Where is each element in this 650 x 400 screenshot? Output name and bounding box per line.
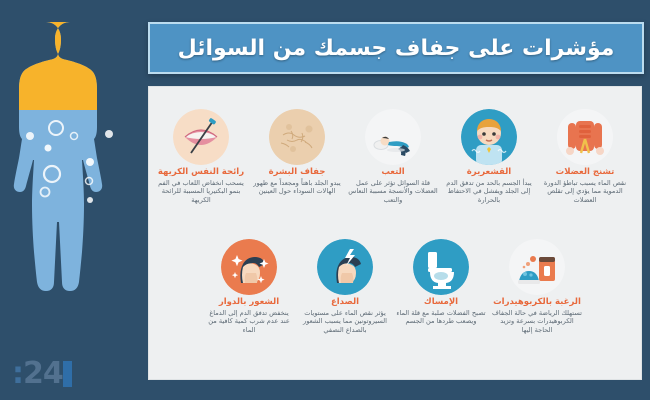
symptom-card-chills[interactable]: القشعريرة يبدأ الجسم بالحد من تدفق الدم … <box>441 109 537 204</box>
card-description: تصبح الفضلات صلبة مع قلة الماء ويصعب طرد… <box>393 309 489 326</box>
title-bar: مؤشرات على جفاف جسمك من السوائل <box>148 22 644 74</box>
card-description: يبدأ الجسم بالحد من تدفق الدم إلى الجلد … <box>441 179 537 204</box>
symptom-card-dizziness[interactable]: الشعور بالدوار ينخفض تدفق الدم إلى الدما… <box>201 239 297 334</box>
symptom-card-headache[interactable]: الصداع يؤثر نقص الماء على مستويات السيرو… <box>297 239 393 334</box>
symptom-card-muscle-cramps[interactable]: تشنج العضلات نقص الماء يسبب تباطؤ الدورة… <box>537 109 633 204</box>
card-description: ينخفض تدفق الدم إلى الدماغ عند عدم شرب ك… <box>201 309 297 334</box>
symptom-card-fatigue[interactable]: التعب قلة السوائل تؤثر على عمل العضلات و… <box>345 109 441 204</box>
dizziness-icon <box>221 239 277 295</box>
card-description: يؤثر نقص الماء على مستويات السيروتونين م… <box>297 309 393 334</box>
exhausted-person-icon <box>365 109 421 165</box>
symptom-card-dry-skin[interactable]: جفاف البشرة يبدو الجلد باهتاً ومجعداً مع… <box>249 109 345 196</box>
bad-breath-mouth-icon <box>173 109 229 165</box>
card-description: يسحب انخفاض اللعاب في الفم بنمو البكتيري… <box>153 179 249 204</box>
infographic-root: :24 مؤشرات على جفاف جسمك من السوائل <box>0 0 650 400</box>
logo-text: 24 <box>23 356 63 391</box>
shivering-child-icon <box>461 109 517 165</box>
symptom-card-bad-breath[interactable]: رائحة النفس الكريهة يسحب انخفاض اللعاب ف… <box>153 109 249 204</box>
symptom-card-carb-craving[interactable]: الرغبة بالكربوهيدرات تستهلك الرياضة في ح… <box>489 239 585 334</box>
card-title: الرغبة بالكربوهيدرات <box>489 297 585 308</box>
headache-icon <box>317 239 373 295</box>
card-title: الإمساك <box>393 297 489 308</box>
human-body-silhouette-icon <box>4 16 136 366</box>
muscle-anatomy-icon <box>557 109 613 165</box>
symptoms-panel: تشنج العضلات نقص الماء يسبب تباطؤ الدورة… <box>148 86 642 380</box>
page-title: مؤشرات على جفاف جسمك من السوائل <box>178 36 615 61</box>
card-title: التعب <box>345 167 441 178</box>
card-title: جفاف البشرة <box>249 167 345 178</box>
card-description: قلة السوائل تؤثر على عمل العضلات والأنسج… <box>345 179 441 204</box>
brand-logo: :24 <box>12 356 84 392</box>
logo-colon-icon: : <box>12 356 23 391</box>
card-title: تشنج العضلات <box>537 167 633 178</box>
logo-bar-icon <box>63 361 72 387</box>
dry-skin-icon <box>269 109 325 165</box>
card-description: يبدو الجلد باهتاً ومجعداً مع ظهور الهالا… <box>249 179 345 196</box>
body-illustration-panel: :24 <box>0 0 140 400</box>
card-title: رائحة النفس الكريهة <box>153 167 249 178</box>
card-title: القشعريرة <box>441 167 537 178</box>
card-description: تستهلك الرياضة في حالة الجفاف الكربوهيدر… <box>489 309 585 334</box>
card-title: الشعور بالدوار <box>201 297 297 308</box>
card-title: الصداع <box>297 297 393 308</box>
card-description: نقص الماء يسبب تباطؤ الدورة الدموية مما … <box>537 179 633 204</box>
toilet-icon <box>413 239 469 295</box>
symptom-card-constipation[interactable]: الإمساك تصبح الفضلات صلبة مع قلة الماء و… <box>393 239 489 326</box>
symptoms-grid: تشنج العضلات نقص الماء يسبب تباطؤ الدورة… <box>149 87 641 379</box>
carb-craving-icon <box>509 239 565 295</box>
